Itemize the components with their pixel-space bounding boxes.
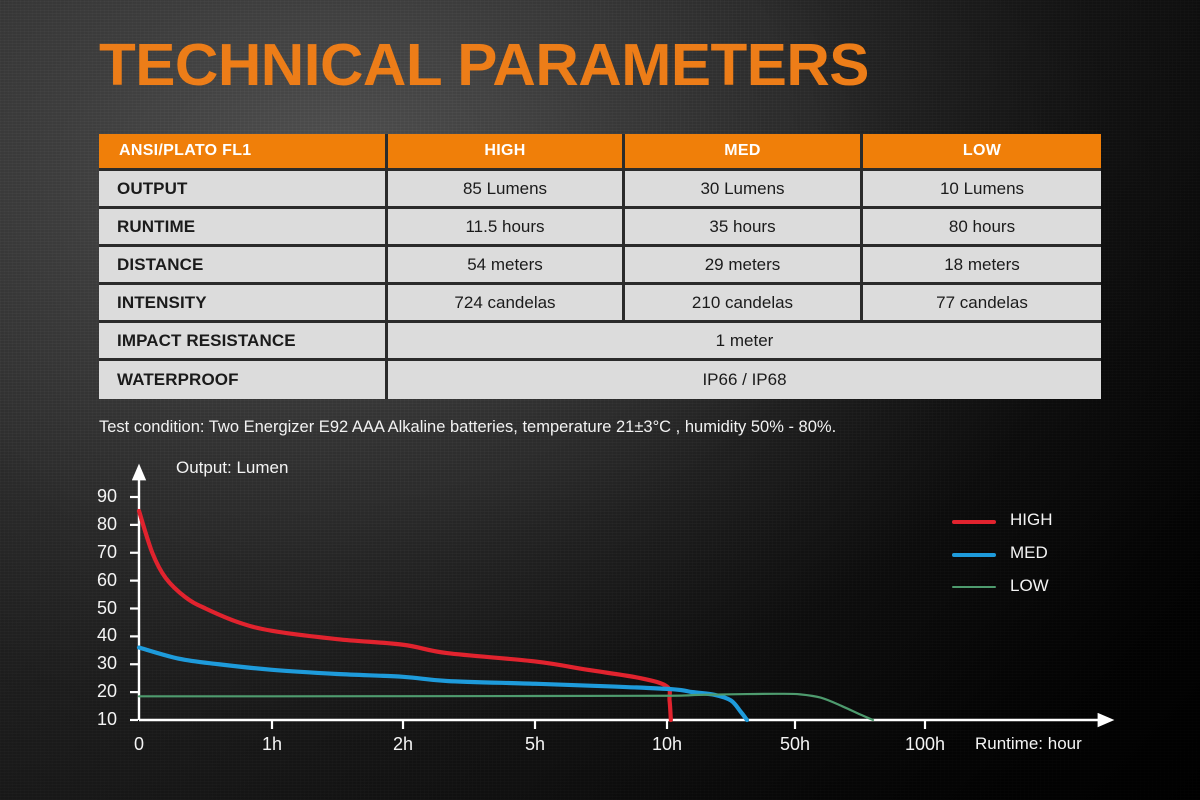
test-condition-note: Test condition: Two Energizer E92 AAA Al… [99, 418, 836, 437]
legend-label-med: MED [1010, 543, 1048, 563]
row-label: IMPACT RESISTANCE [99, 323, 388, 361]
row-label: DISTANCE [99, 247, 388, 285]
series-line-low [139, 694, 873, 720]
y-axis-tick-label: 10 [77, 709, 117, 730]
row-value: 724 candelas [388, 285, 625, 323]
y-axis-tick-label: 50 [77, 598, 117, 619]
row-value: 77 candelas [863, 285, 1101, 323]
row-value: 35 hours [625, 209, 863, 247]
y-axis-tick-label: 60 [77, 570, 117, 591]
row-label: RUNTIME [99, 209, 388, 247]
row-value: 54 meters [388, 247, 625, 285]
x-axis-tick-label: 2h [368, 734, 438, 755]
slide-canvas: TECHNICAL PARAMETERS ANSI/PLATO FL1 HIGH… [0, 0, 1200, 800]
legend-label-low: LOW [1010, 576, 1049, 596]
col-header-ansi: ANSI/PLATO FL1 [99, 134, 388, 171]
row-value: 10 Lumens [863, 171, 1101, 209]
legend-swatch-high [952, 520, 996, 524]
table-row: RUNTIME11.5 hours35 hours80 hours [99, 209, 1101, 247]
table-row: OUTPUT85 Lumens30 Lumens10 Lumens [99, 171, 1101, 209]
row-value: 85 Lumens [388, 171, 625, 209]
specs-table-body: OUTPUT85 Lumens30 Lumens10 LumensRUNTIME… [99, 171, 1101, 399]
row-value-merged: 1 meter [388, 323, 1101, 361]
legend-label-high: HIGH [1010, 510, 1053, 530]
table-row: DISTANCE54 meters29 meters18 meters [99, 247, 1101, 285]
y-axis-tick-label: 40 [77, 625, 117, 646]
table-row: WATERPROOFIP66 / IP68 [99, 361, 1101, 399]
x-axis-tick-label: 5h [500, 734, 570, 755]
y-axis-tick-label: 30 [77, 653, 117, 674]
y-axis-tick-label: 70 [77, 542, 117, 563]
row-value: 210 candelas [625, 285, 863, 323]
row-value: 29 meters [625, 247, 863, 285]
y-axis-title: Output: Lumen [176, 458, 288, 478]
row-value: 30 Lumens [625, 171, 863, 209]
page-title: TECHNICAL PARAMETERS [99, 36, 869, 95]
y-axis-tick-label: 20 [77, 681, 117, 702]
row-value: 80 hours [863, 209, 1101, 247]
x-axis-title: Runtime: hour [975, 734, 1082, 754]
x-axis-tick-label: 50h [760, 734, 830, 755]
specs-table: ANSI/PLATO FL1 HIGH MED LOW OUTPUT85 Lum… [99, 134, 1101, 399]
x-axis-tick-label: 0 [104, 734, 174, 755]
legend-swatch-low [952, 586, 996, 588]
row-value-merged: IP66 / IP68 [388, 361, 1101, 399]
y-axis-tick-label: 80 [77, 514, 117, 535]
series-line-high [139, 511, 671, 720]
row-label: OUTPUT [99, 171, 388, 209]
runtime-chart: 10203040506070809001h2h5h10h50h100hOutpu… [0, 440, 1200, 770]
chart-plot-area [0, 440, 1200, 770]
x-axis-tick-label: 10h [632, 734, 702, 755]
table-row: IMPACT RESISTANCE1 meter [99, 323, 1101, 361]
x-axis-tick-label: 100h [890, 734, 960, 755]
table-header-row: ANSI/PLATO FL1 HIGH MED LOW [99, 134, 1101, 171]
legend-swatch-med [952, 553, 996, 557]
col-header-high: HIGH [388, 134, 625, 171]
table-row: INTENSITY724 candelas210 candelas77 cand… [99, 285, 1101, 323]
x-axis-tick-label: 1h [237, 734, 307, 755]
y-axis-tick-label: 90 [77, 486, 117, 507]
row-label: WATERPROOF [99, 361, 388, 399]
row-value: 11.5 hours [388, 209, 625, 247]
col-header-low: LOW [863, 134, 1101, 171]
specs-table-head: ANSI/PLATO FL1 HIGH MED LOW [99, 134, 1101, 171]
row-value: 18 meters [863, 247, 1101, 285]
row-label: INTENSITY [99, 285, 388, 323]
col-header-med: MED [625, 134, 863, 171]
